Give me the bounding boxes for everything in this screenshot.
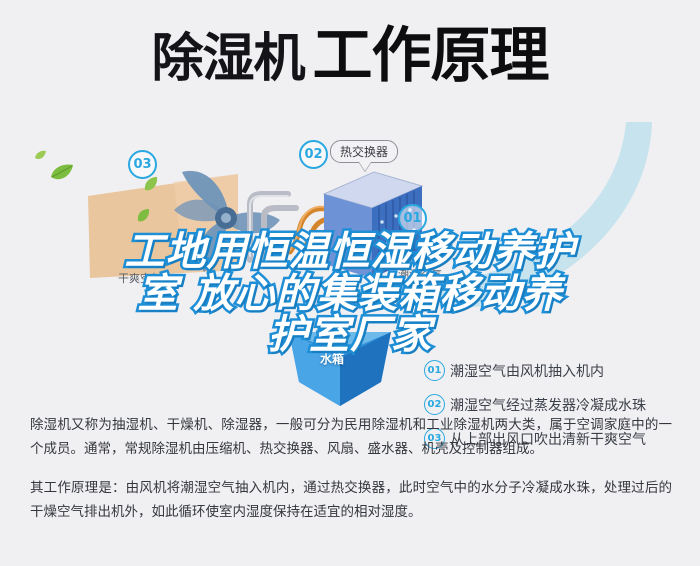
page-title: 除湿机工作原理 [0,26,700,86]
body-copy: 除湿机又称为抽湿机、干燥机、除湿器，一般可分为民用除湿机和工业除湿机两大类，属于… [30,414,672,525]
paragraph-definition: 除湿机又称为抽湿机、干燥机、除湿器，一般可分为民用除湿机和工业除湿机两大类，属于… [30,414,672,461]
diagram-badge-03: 03 [128,150,157,179]
diagram-badge-01: 01 [398,204,427,233]
legend-label: 潮湿空气由风机抽入机内 [450,361,604,381]
legend-item: 02 潮湿空气经过蒸发器冷凝成水珠 [424,394,700,415]
leaf-icon [136,208,151,223]
paragraph-principle: 其工作原理是：由风机将潮湿空气抽入机内，通过热交换器，此时空气中的水分子冷凝成水… [30,477,672,524]
leaf-icon [50,164,74,182]
legend-label: 潮湿空气经过蒸发器冷凝成水珠 [450,395,646,415]
airflow-swoosh-graphic [402,122,652,312]
water-tank-label: 水箱 [320,350,344,367]
heat-exchanger-bubble-label: 热交换器 [330,140,398,163]
page-title-part1: 除湿机 [151,29,304,89]
legend-item: 01 潮湿空气由风机抽入机内 [424,360,700,381]
diagram-badge-02: 02 [299,140,328,169]
legend-number: 02 [424,394,445,415]
leaf-icon [34,150,47,161]
water-tank-graphic [285,330,395,410]
legend-number: 01 [424,360,445,381]
page-title-part2: 工作原理 [313,21,549,91]
caption-humid-air: 潮湿空气 [398,266,442,282]
caption-dry-air: 干爽空气 [118,270,162,286]
dehumidifier-diagram: 03 02 01 热交换器 干爽空气 潮湿空气 水箱 01 潮湿空气由风机抽入机… [0,118,700,408]
poster-root: 除湿机工作原理 [0,0,700,566]
